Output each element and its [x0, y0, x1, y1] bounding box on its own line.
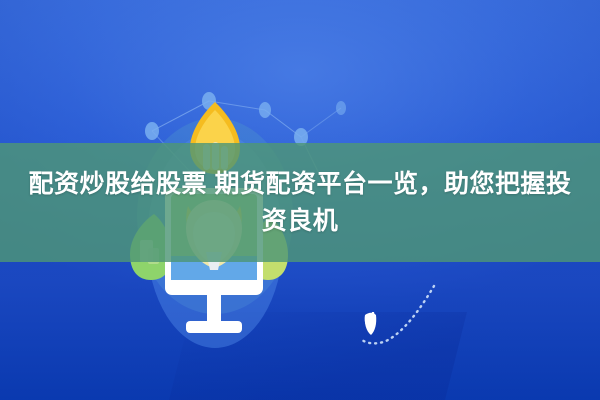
banner-title: 配资炒股给股票 期货配资平台一览，助您把握投资良机	[22, 166, 578, 240]
title-band: 配资炒股给股票 期货配资平台一览，助您把握投资良机	[0, 143, 600, 262]
banner-image: 配资炒股给股票 期货配资平台一览，助您把握投资良机	[0, 0, 600, 400]
